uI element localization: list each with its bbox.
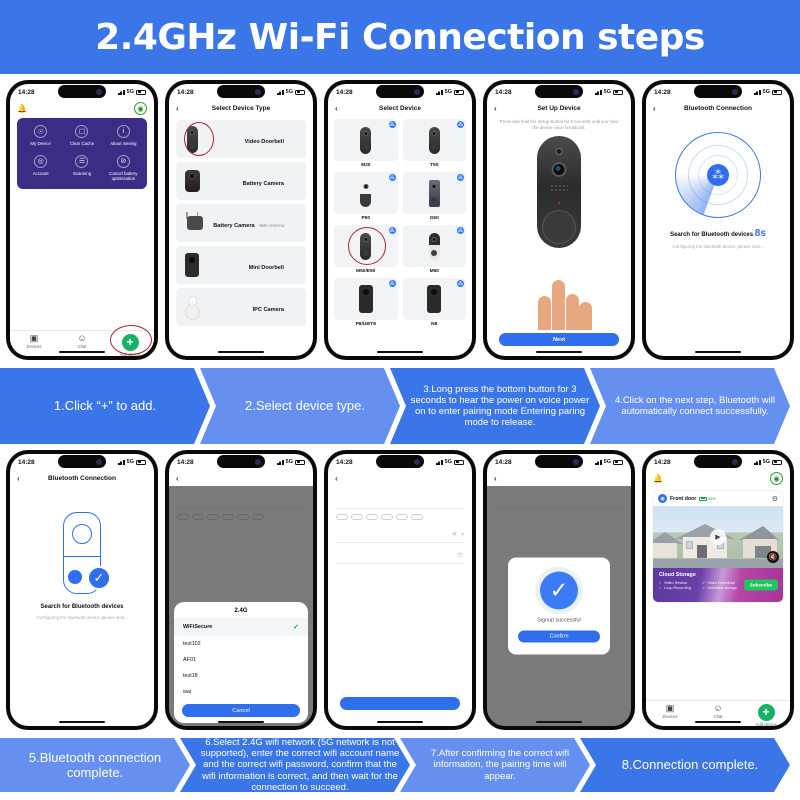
status-time: 14:28 [177,89,194,96]
battery-icon [295,460,305,465]
tab-chat[interactable]: ☺ Chat [61,334,103,349]
caption-text: 1.Click “+” to add. [54,398,156,413]
check-icon: ✓ [540,572,578,610]
wifi-network-sheet: 2.4G WiFiSecure ✓ test102 AF01 test18 [174,602,308,723]
status-time: 14:28 [654,89,671,96]
network-type: 5G [286,459,293,465]
status-time: 14:28 [336,89,353,96]
status-indicators: 5G [436,459,464,465]
battery-camera-icon [184,166,200,196]
phone-1-home: 14:28 5G 🔔 ◉ ☉ [6,80,158,360]
home-body: 🔔 ◉ ☉ My Device ☐ Clear Cache [10,100,154,356]
home-indicator [695,351,741,354]
status-indicators: 5G [277,459,305,465]
caption-step-2: 2.Select device type. [200,368,400,444]
tab-add-device[interactable]: + Add device [745,704,787,726]
item-title: IPC Camera [253,307,284,313]
phone-3-select-device: 14:28 5G ‹ Select Device ⁂ [324,80,476,360]
profile-avatar[interactable]: ◉ [134,102,147,115]
play-icon[interactable]: ▶ [710,529,726,545]
ssid-option[interactable]: wai [174,684,308,700]
signal-icon [436,90,443,95]
status-bar: 14:28 5G [328,84,472,100]
network-type: 5G [127,459,134,465]
network-type: 5G [127,89,134,95]
tab-devices[interactable]: ▣ Devices [649,704,691,719]
model-thumb: ⁂ [403,119,467,161]
password-input[interactable]: 👁 [336,548,464,564]
model-thumb: ⁂ [403,278,467,320]
device-card-header: ◉ Front door 90% ⚙ [653,491,783,506]
sheet-title: 2.4G [174,602,308,618]
nav-bar: ‹ [328,470,472,486]
notch [535,455,583,468]
item-title: Battery Camera [243,181,284,187]
caption-text: 5.Bluetooth connection complete. [10,750,180,781]
phone-8-wifi-form: 14:28 5G ‹ [324,450,476,730]
network-type: 5G [604,89,611,95]
status-bar: 14:28 5G [328,454,472,470]
grid-item-model[interactable]: ⁂ T50 [403,119,467,168]
status-bar: 14:28 5G [10,84,154,100]
front-camera-icon [414,89,420,95]
model-thumb: ⁂ [403,172,467,214]
tab-chat[interactable]: ☺ Chat [697,704,739,719]
chip-garden[interactable] [366,514,378,520]
grid-item-my-device[interactable]: ☉ My Device [20,125,61,147]
caption-text: 4.Click on the next step, Bluetooth will… [610,395,780,417]
caption-step-1: 1.Click “+” to add. [0,368,210,444]
success-message: Signup successful [537,618,580,624]
radar-circle: ⁂ [675,132,761,218]
model-label: P8/U8/T8 [356,322,376,327]
battery-icon [136,90,146,95]
highlight-ring-add-device [110,325,152,355]
battery-icon [613,460,623,465]
screen-setup: 14:28 5G ‹ Set Up Device Press and hold … [487,84,631,356]
chevron-down-icon[interactable]: ▾ [461,531,464,538]
list-item[interactable]: Battery Camera [176,162,306,200]
ssid-option-selected[interactable]: WiFiSecure ✓ [174,618,308,636]
status-indicators: 5G [118,89,146,95]
grid-label: Clear Cache [70,141,94,147]
model-thumb: ⁂ [334,225,398,267]
status-time: 14:28 [18,459,35,466]
radar-animation: ⁂ Search for Bluetooth devices 8s Config… [646,116,790,249]
back-icon[interactable]: ‹ [335,474,338,483]
bluetooth-icon: ⁂ [457,121,464,128]
grid-item-scanning[interactable]: ☰ Scanning [61,155,102,182]
phone-9-success-modal: 14:28 5G ‹ [483,450,635,730]
network-type: 5G [604,459,611,465]
status-time: 14:28 [177,459,194,466]
nav-bar: ‹ Bluetooth Connection [10,470,154,486]
feature-item: Video Download [702,581,741,585]
ssid-option[interactable]: test102 [174,636,308,652]
bluetooth-icon: ⁂ [457,227,464,234]
wifi-note [328,486,472,495]
back-icon[interactable]: ‹ [494,474,497,483]
signal-icon [754,90,761,95]
grid-item-model-selected[interactable]: ⁂ M50/E50 [334,225,398,274]
phone-row-bottom: 14:28 5G ‹ Bluetooth Connection [0,444,800,738]
ir-array-icon [550,184,568,192]
status-indicators: 5G [595,459,623,465]
caption-text: 6.Select 2.4G wifi network (5G network i… [200,737,400,793]
device-icon: ☉ [34,125,47,138]
page-header: 2.4GHz Wi-Fi Connection steps [0,0,800,74]
item-text: IPC Camera [253,298,284,316]
signal-icon [118,460,125,465]
ssid-label: test102 [183,641,201,647]
model-label: M20 [361,163,370,168]
cancel-button[interactable]: Cancel [182,704,300,717]
back-icon[interactable]: ‹ [494,104,497,113]
grid-label: About Seeing [110,141,136,147]
battery-icon [772,460,782,465]
input-icons: 👁 [456,552,464,559]
input-icons: ✖ ▾ [452,531,464,538]
device-live-body: 🔔 ◉ ◉ Front door 90% ⚙ [646,470,790,726]
back-icon[interactable]: ‹ [176,474,179,483]
caption-step-8: 8.Connection complete. [580,738,790,792]
next-button[interactable] [340,697,460,710]
home-indicator [536,351,582,354]
notification-bell-icon[interactable]: 🔔 [653,474,663,483]
status-indicators: 5G [754,459,782,465]
select-device-body: ⁂ M20 ⁂ T50 ⁂ P50 ⁂ G50 [328,116,472,356]
home-indicator [377,351,423,354]
status-bar: 14:28 5G [10,454,154,470]
bluetooth-complete-body: ✓ Search for Bluetooth devices Configuri… [10,486,154,726]
model-thumb: ⁂ [334,119,398,161]
success-dialog: ✓ Signup successful Confirm [508,558,610,655]
notification-bell-icon[interactable]: 🔔 [17,104,27,113]
notch [217,455,265,468]
front-camera-icon [96,459,102,465]
highlight-ring-selected-model [348,227,386,265]
confirm-button[interactable]: Confirm [518,631,600,643]
status-time: 14:28 [495,459,512,466]
tab-label: Add device [756,722,777,726]
infographic-page: 2.4GHz Wi-Fi Connection steps 14:28 5G 🔔 [0,0,800,800]
status-indicators: 5G [118,459,146,465]
button-dot-icon [68,570,82,584]
grid-item-model[interactable]: ⁂ M60 [403,225,467,274]
grid-item-clear-cache[interactable]: ☐ Clear Cache [61,125,102,147]
notch [58,455,106,468]
chip-backyard[interactable] [381,514,393,520]
notch [535,85,583,98]
home-toolbar: 🔔 ◉ [646,470,790,488]
status-time: 14:28 [18,89,35,96]
screen-bluetooth-complete: 14:28 5G ‹ Bluetooth Connection [10,454,154,726]
led-indicator-icon [558,202,560,204]
status-indicators: 5G [436,89,464,95]
add-device-fab[interactable]: + [758,704,775,721]
screen-device-live: 14:28 5G 🔔 ◉ ◉ [646,454,790,726]
battery-percent: 90% [708,497,715,501]
chip-office[interactable] [411,514,423,520]
doorbell-illustration [537,136,581,248]
grid-item-model[interactable]: ⁂ G50 [403,172,467,221]
list-item[interactable]: Mini Doorbell [176,246,306,284]
info-icon: i [117,125,130,138]
ipc-camera-icon [184,292,200,322]
battery-status: 90% [699,497,715,501]
caption-band-top: 1.Click “+” to add. 2.Select device type… [0,368,800,444]
network-type: 5G [445,459,452,465]
nav-bar: ‹ Set Up Device [487,100,631,116]
chat-icon: ☺ [713,704,722,713]
tab-devices[interactable]: ▣ Devices [13,334,55,349]
grid-label: Account [33,171,49,177]
item-title: Battery Camera [213,223,254,229]
chip-bedroom[interactable] [351,514,363,520]
status-time: 14:28 [495,89,512,96]
grid-item-model[interactable]: ⁂ N8 [403,278,467,327]
ssid-label: AF01 [183,657,196,663]
page-title: 2.4GHz Wi-Fi Connection steps [95,17,705,58]
cloud-feature-list: Video Review Video Download Loop Recordi… [659,581,742,590]
grid-item-battery-optimization[interactable]: ⊘ Cancel battery optimization [103,155,144,182]
screen-home: 14:28 5G 🔔 ◉ ☉ [10,84,154,356]
home-indicator [536,721,582,724]
caption-text: 2.Select device type. [245,398,365,413]
caption-step-6: 6.Select 2.4G wifi network (5G network i… [180,738,410,792]
devices-icon: ▣ [30,334,39,343]
device-type-body: Video Doorbell Battery Camera [169,116,313,356]
road-graphic [653,559,783,568]
front-camera-icon [255,459,261,465]
item-text: Battery Camera With Antenna [213,214,284,232]
countdown-seconds: 8s [755,228,766,239]
home-indicator [59,351,105,354]
clear-icon[interactable]: ✖ [452,531,457,538]
tab-label: Chat [714,714,723,719]
front-camera-icon [255,89,261,95]
lens-outline-icon [72,524,92,544]
search-subtext: Configuring the bluetooth device, please… [10,615,154,620]
list-item[interactable]: Battery Camera With Antenna [176,204,306,242]
scan-icon: ☰ [75,155,88,168]
caption-text: 7.After confirming the correct wifi info… [420,748,580,782]
device-card[interactable]: ◉ Front door 90% ⚙ [653,491,783,602]
screen-title: Select Device Type [169,105,313,112]
status-bar: 14:28 5G [169,454,313,470]
setup-instructions: Press and hold the Setup Button for 5 se… [487,116,631,131]
signal-icon [595,460,602,465]
model-thumb: ⁂ [334,278,398,320]
phone-5-bluetooth-searching: 14:28 5G ‹ Bluetooth Connection [642,80,794,360]
home-indicator [377,721,423,724]
chip-living-room[interactable] [336,514,348,520]
grid-label: Cancel battery optimization [103,171,143,182]
home-toolbar: 🔔 ◉ [10,100,154,118]
search-status-text: Search for Bluetooth devices [10,604,154,610]
cloud-storage-title: Cloud Storage [659,572,777,578]
front-camera-icon [96,89,102,95]
notch [694,455,742,468]
mini-doorbell-icon [184,250,200,280]
caption-step-5: 5.Bluetooth connection complete. [0,738,190,792]
cloud-storage-banner[interactable]: Cloud Storage Video Review Video Downloa… [653,568,783,602]
battery-icon [699,497,707,501]
caption-text: 8.Connection complete. [622,757,759,772]
top-sensor-icon [556,148,563,155]
back-icon[interactable]: ‹ [653,104,656,113]
model-thumb: ⁂ [403,225,467,267]
search-status-text: Search for Bluetooth devices 8s [670,228,766,239]
subscribe-button[interactable]: Subscribe [744,580,778,591]
divider-line [63,556,101,557]
screen-title: Select Device [328,105,472,112]
folder-icon: ☐ [75,125,88,138]
search-label: Search for Bluetooth devices [670,232,753,238]
caption-step-4: 4.Click on the next step, Bluetooth will… [590,368,790,444]
home-indicator [59,721,105,724]
wifi-form: ✖ ▾ 👁 [328,500,472,564]
device-type-list: Video Doorbell Battery Camera [169,116,313,330]
screen-device-type: 14:28 5G ‹ Select Device Type [169,84,313,356]
grid-label: My Device [30,141,51,147]
status-indicators: 5G [595,89,623,95]
grid-label: Scanning [73,171,91,177]
account-icon: ◎ [34,155,47,168]
status-bar: 14:28 5G [646,454,790,470]
devices-icon: ▣ [666,704,675,713]
network-name-input[interactable]: ✖ ▾ [336,527,464,543]
status-bar: 14:28 5G [646,84,790,100]
check-icon: ✓ [293,623,299,631]
bluetooth-icon: ⁂ [457,280,464,287]
notch [58,85,106,98]
signal-icon [277,460,284,465]
item-subtitle: With Antenna [259,223,284,228]
feature-item: Video Review [659,581,698,585]
item-text: Battery Camera [243,172,284,190]
grid-item-about[interactable]: i About Seeing [103,125,144,147]
search-subtext: Configuring the bluetooth device, please… [672,244,763,249]
battery-icon [454,460,464,465]
hand-illustration [530,274,588,330]
setup-body: Press and hold the Setup Button for 5 se… [487,116,631,356]
feature-item: Loop Recording [659,586,698,590]
screen-success: 14:28 5G ‹ [487,454,631,726]
battery-icon [136,460,146,465]
wifi-form-body: ✖ ▾ 👁 [328,486,472,726]
item-text: Video Doorbell [245,130,284,148]
network-type: 5G [763,459,770,465]
notch [376,455,424,468]
back-icon[interactable]: ‹ [17,474,20,483]
bluetooth-icon: ⁂ [389,227,396,234]
camera-feed[interactable]: ▶ 🔇 [653,506,783,568]
battery-block-icon: ⊘ [117,155,130,168]
list-item[interactable]: IPC Camera [176,288,306,326]
status-indicators: 5G [277,89,305,95]
ssid-label: WiFiSecure [183,624,212,630]
front-camera-icon [732,459,738,465]
model-label: P50 [361,216,370,221]
network-type: 5G [763,89,770,95]
grid-item-model[interactable]: ⁂ P50 [334,172,398,221]
model-label: M50/E50 [356,269,375,274]
nav-bar: ‹ [169,470,313,486]
signal-icon [436,460,443,465]
device-name-value[interactable] [336,500,464,509]
battery-icon [454,90,464,95]
tab-label: Chat [78,344,87,349]
list-item[interactable]: Video Doorbell [176,120,306,158]
front-camera-icon [573,89,579,95]
item-title: Mini Doorbell [249,265,284,271]
doorbell-icon: ◉ [658,494,667,503]
bluetooth-icon: ⁂ [457,174,464,181]
screen-title: Set Up Device [487,105,631,112]
setup-button-icon [542,210,576,244]
settings-gear-icon[interactable]: ⚙ [772,495,778,503]
screen-wifi-form: 14:28 5G ‹ [328,454,472,726]
chat-icon: ☺ [77,334,86,343]
status-bar: 14:28 5G [169,84,313,100]
nav-bar: ‹ Bluetooth Connection [646,100,790,116]
room-chips [336,509,464,522]
ssid-option[interactable]: AF01 [174,652,308,668]
camera-lens-icon [552,162,567,177]
battery-camera-antenna-icon [184,208,200,238]
check-icon: ✓ [87,566,111,590]
profile-avatar[interactable]: ◉ [770,472,783,485]
home-indicator [218,721,264,724]
back-icon[interactable]: ‹ [335,104,338,113]
network-type: 5G [286,89,293,95]
status-bar: 14:28 5G [487,84,631,100]
ssid-option[interactable]: test18 [174,668,308,684]
ssid-label: wai [183,689,191,695]
screen-title: Bluetooth Connection [646,105,790,112]
next-button[interactable]: Next [499,333,619,346]
back-icon[interactable]: ‹ [176,104,179,113]
status-bar: 14:28 5G [487,454,631,470]
mute-icon[interactable]: 🔇 [767,551,779,563]
phone-6-bluetooth-complete: 14:28 5G ‹ Bluetooth Connection [6,450,158,730]
tab-label: Devices [663,714,678,719]
bluetooth-search-body: ⁂ Search for Bluetooth devices 8s Config… [646,116,790,356]
front-camera-icon [573,459,579,465]
doorbell-success-illustration: ✓ [55,512,109,594]
home-indicator [695,721,741,724]
grid-item-model[interactable]: ⁂ M20 [334,119,398,168]
chip-front-door[interactable] [396,514,408,520]
nav-bar: ‹ Select Device [328,100,472,116]
screen-title: Bluetooth Connection [10,475,154,482]
bluetooth-icon: ⁂ [389,174,396,181]
notch [694,85,742,98]
grid-item-model[interactable]: ⁂ P8/U8/T8 [334,278,398,327]
grid-item-account[interactable]: ◎ Account [20,155,61,182]
battery-icon [613,90,623,95]
screen-wifi-picker: 14:28 5G ‹ [169,454,313,726]
wifi-picker-body: 2.4G WiFiSecure ✓ test102 AF01 test18 [169,486,313,726]
model-label: G50 [430,216,439,221]
item-title: Video Doorbell [245,139,284,145]
bluetooth-icon: ⁂ [389,121,396,128]
eye-icon[interactable]: 👁 [456,552,464,559]
network-type: 5G [445,89,452,95]
model-thumb: ⁂ [334,172,398,214]
signal-icon [595,90,602,95]
